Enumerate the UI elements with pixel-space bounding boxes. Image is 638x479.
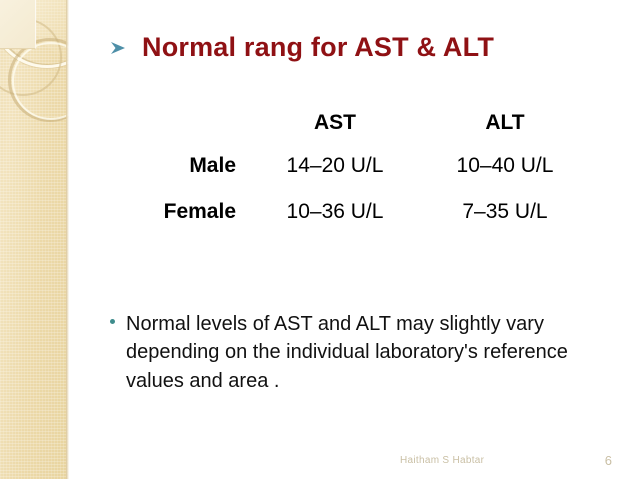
page-title: Normal rang for AST & ALT: [142, 32, 494, 63]
cell-male-ast: 14–20 U/L: [250, 143, 420, 189]
column-header-ast: AST: [250, 103, 420, 143]
table-corner-cell: [130, 103, 250, 143]
cell-female-alt: 7–35 U/L: [420, 189, 590, 235]
table-row: Female 10–36 U/L 7–35 U/L: [130, 189, 590, 235]
dot-bullet-icon: [110, 310, 126, 324]
footer-slide-number: 6: [605, 453, 612, 468]
row-label-male: Male: [130, 143, 250, 189]
row-label-female: Female: [130, 189, 250, 235]
table-header-row: AST ALT: [130, 103, 590, 143]
slide-canvas: Normal rang for AST & ALT AST ALT Male 1…: [0, 0, 638, 479]
table-header: AST ALT: [130, 103, 590, 143]
body-text: Normal levels of AST and ALT may slightl…: [126, 310, 610, 395]
band-right-edge: [66, 0, 69, 479]
corner-panel: [0, 0, 36, 49]
table-body: Male 14–20 U/L 10–40 U/L Female 10–36 U/…: [130, 143, 590, 235]
reference-range-table: AST ALT Male 14–20 U/L 10–40 U/L Female …: [130, 103, 590, 235]
cell-male-alt: 10–40 U/L: [420, 143, 590, 189]
cell-female-ast: 10–36 U/L: [250, 189, 420, 235]
decorative-side-band: [0, 0, 69, 479]
arrow-bullet-icon: [108, 38, 128, 58]
table-row: Male 14–20 U/L 10–40 U/L: [130, 143, 590, 189]
body-bullet-item: Normal levels of AST and ALT may slightl…: [110, 310, 610, 395]
column-header-alt: ALT: [420, 103, 590, 143]
slide-title-row: Normal rang for AST & ALT: [108, 32, 494, 63]
footer-author: Haitham S Habtar: [400, 455, 484, 466]
